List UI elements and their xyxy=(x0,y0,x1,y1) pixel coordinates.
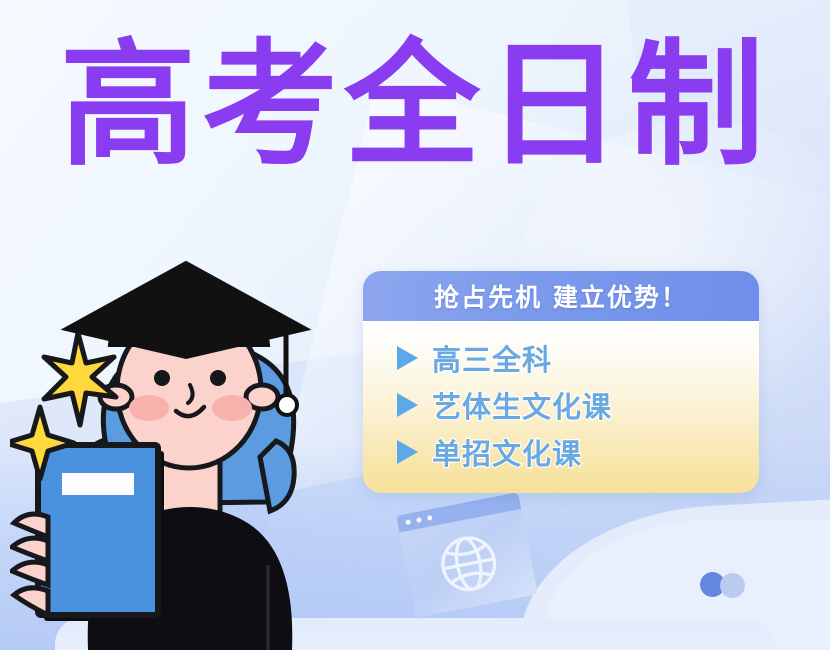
background-curve-sweep xyxy=(513,494,830,650)
info-card-body: 高三全科 艺体生文化课 单招文化课 xyxy=(363,321,759,493)
list-item[interactable]: 艺体生文化课 xyxy=(397,386,759,424)
course-label: 单招文化课 xyxy=(432,431,582,473)
course-label: 艺体生文化课 xyxy=(432,384,612,426)
triangle-right-icon xyxy=(397,346,418,370)
triangle-right-icon xyxy=(397,440,418,464)
browser-dot-3 xyxy=(427,515,433,521)
globe-icon xyxy=(430,525,507,602)
poster-canvas: 高考全日制 xyxy=(0,0,830,650)
browser-window-illustration xyxy=(396,492,538,618)
graduate-character-svg xyxy=(10,245,370,650)
list-item[interactable]: 高三全科 xyxy=(397,339,759,377)
background-curve-sweep-inner xyxy=(545,520,830,650)
graduate-character-illustration xyxy=(10,245,370,650)
info-card-header-text: 抢占先机 建立优势！ xyxy=(434,278,688,314)
accent-dot-light xyxy=(720,573,745,598)
course-list: 高三全科 艺体生文化课 单招文化课 xyxy=(397,339,759,471)
book-icon xyxy=(38,445,164,621)
info-card: 抢占先机 建立优势！ 高三全科 艺体生文化课 单招文化课 xyxy=(363,271,759,493)
page-title: 高考全日制 xyxy=(0,38,830,174)
triangle-right-icon xyxy=(397,393,418,417)
list-item[interactable]: 单招文化课 xyxy=(397,433,759,471)
browser-dot-1 xyxy=(405,519,411,525)
browser-dot-2 xyxy=(416,517,422,523)
course-label: 高三全科 xyxy=(432,337,552,379)
info-card-header: 抢占先机 建立优势！ xyxy=(363,271,759,321)
hand-group xyxy=(12,514,48,615)
